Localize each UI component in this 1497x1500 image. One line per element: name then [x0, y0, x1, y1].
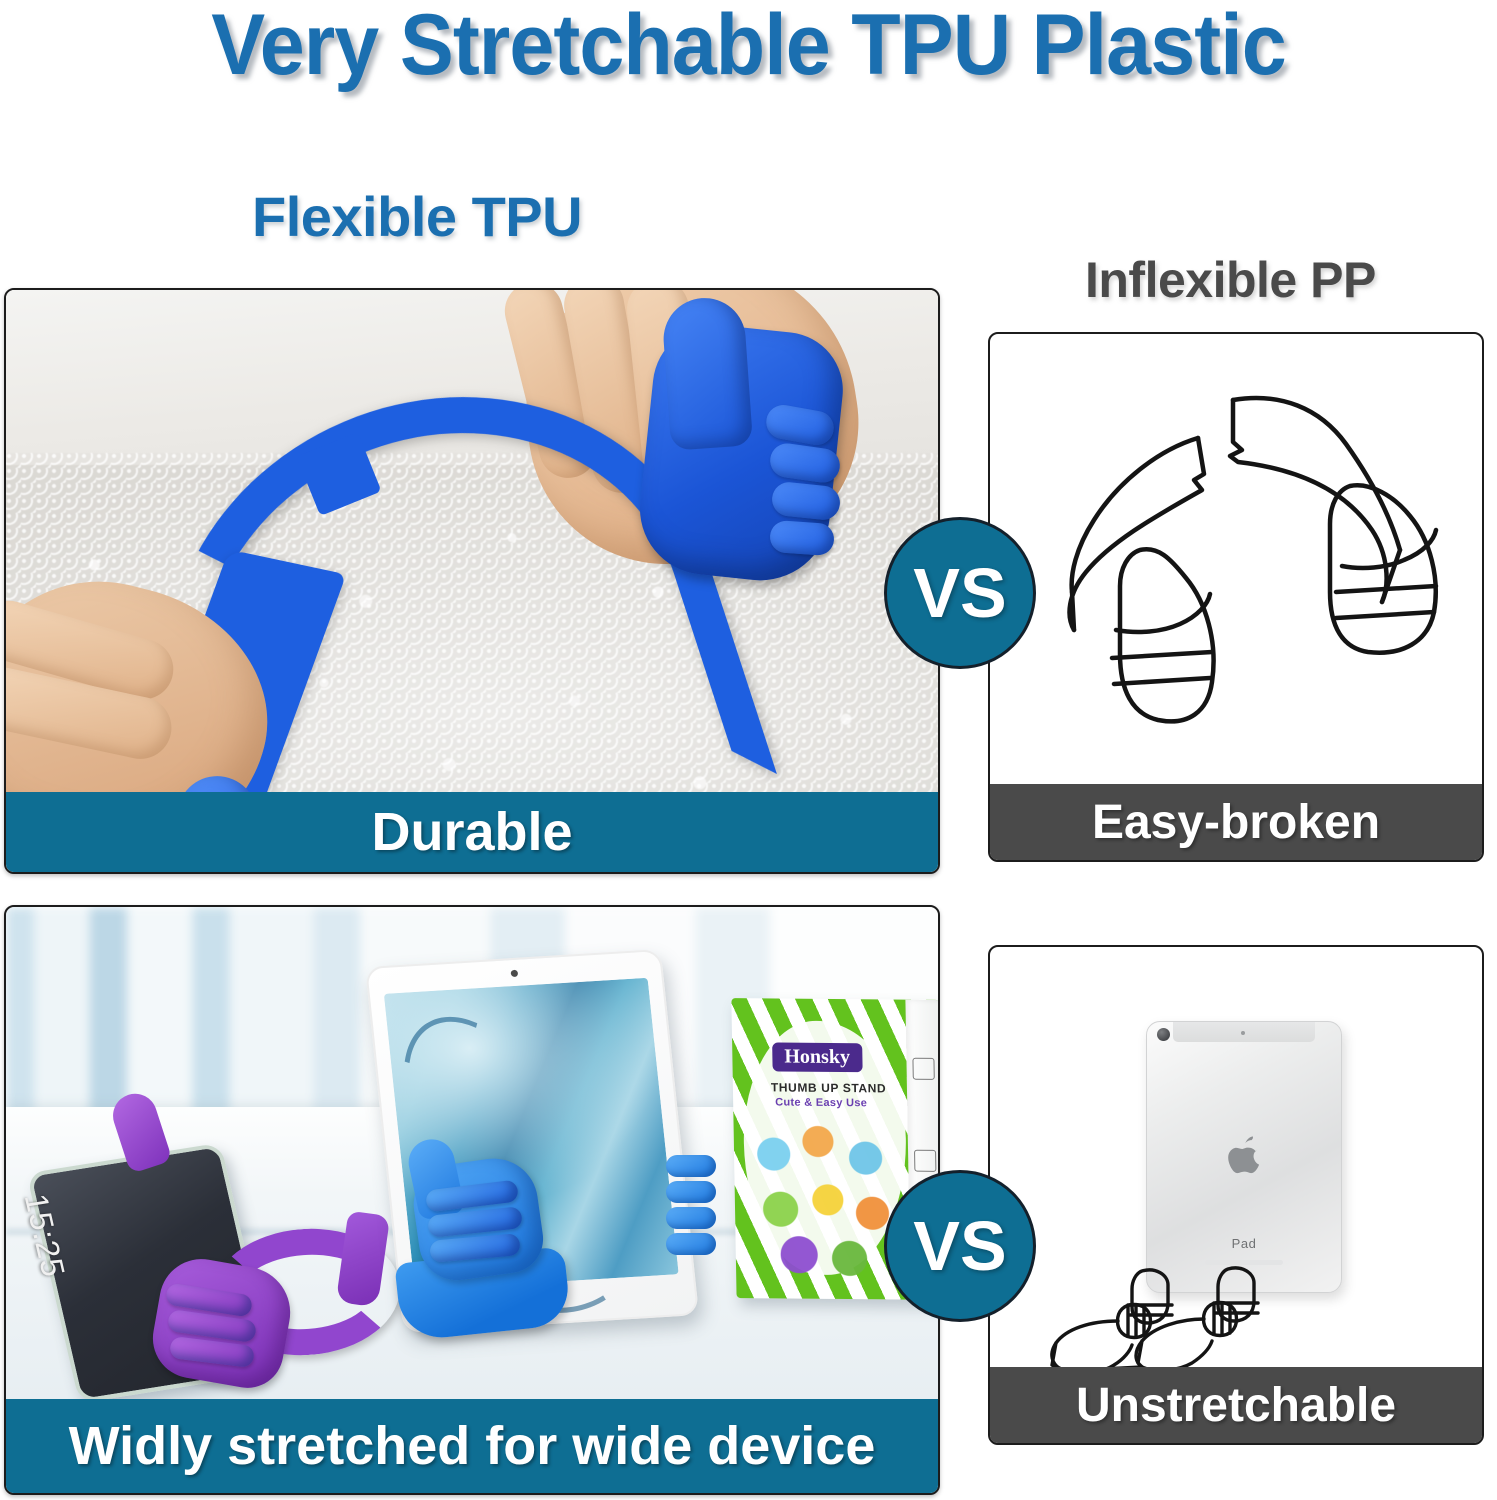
- page-title: Very Stretchable TPU Plastic: [45, 0, 1452, 95]
- blue-finger-1: [666, 1155, 716, 1177]
- panel-pp-unstretchable: Pad: [988, 945, 1484, 1445]
- caption-easy-broken: Easy-broken: [990, 784, 1482, 860]
- blue-finger-2: [666, 1181, 716, 1203]
- panel-tpu-durable: Durable: [4, 288, 940, 874]
- vs-badge-bottom: VS: [884, 1170, 1036, 1322]
- package-thumb-illustrations: [749, 1118, 900, 1281]
- package-care-icon: [914, 1150, 936, 1172]
- right-column-subtitle: Inflexible PP: [1085, 251, 1376, 309]
- blue-finger-4: [666, 1233, 716, 1255]
- tablet-back-shell: Pad: [1146, 1021, 1342, 1293]
- blue-stand-fingers-right: [666, 1155, 718, 1267]
- blue-finger-3: [666, 1207, 716, 1229]
- caption-unstretchable: Unstretchable: [990, 1367, 1482, 1443]
- panel-widely-stretched: 15:25: [4, 905, 940, 1495]
- knuckle-4: [769, 520, 835, 556]
- package-product-name: THUMB UP STAND: [771, 1080, 887, 1095]
- tablet-model-label: Pad: [1147, 1236, 1341, 1251]
- package-brand-logo: Honsky: [772, 1042, 862, 1072]
- caption-widely-stretched: Widly stretched for wide device: [6, 1399, 938, 1493]
- broken-stand-line-drawing: [990, 334, 1484, 789]
- caption-easy-broken-text: Easy-broken: [1092, 795, 1380, 850]
- vs-badge-top: VS: [884, 517, 1036, 669]
- tablet-microphone: [1241, 1031, 1245, 1035]
- tpu-pellet-scene: [6, 290, 938, 872]
- caption-widely-stretched-text: Widly stretched for wide device: [69, 1415, 876, 1477]
- left-column-subtitle: Flexible TPU: [252, 184, 582, 249]
- caption-durable-text: Durable: [371, 801, 572, 863]
- infographic-root: Very Stretchable TPU Plastic Flexible TP…: [0, 0, 1497, 1500]
- caption-durable: Durable: [6, 792, 938, 872]
- apple-logo-icon: [1222, 1130, 1266, 1178]
- package-tagline: Cute & Easy Use: [775, 1096, 867, 1109]
- tablet-camera: [511, 970, 519, 977]
- caption-unstretchable-text: Unstretchable: [1076, 1378, 1396, 1433]
- tablet-rear-camera: [1157, 1028, 1170, 1041]
- package-warning-icon: [912, 1058, 934, 1080]
- vs-badge-bottom-label: VS: [913, 1206, 1006, 1286]
- vs-badge-top-label: VS: [913, 553, 1006, 633]
- panel-pp-easy-broken: Easy-broken: [988, 332, 1484, 862]
- thumb-upper-tip: [661, 295, 753, 450]
